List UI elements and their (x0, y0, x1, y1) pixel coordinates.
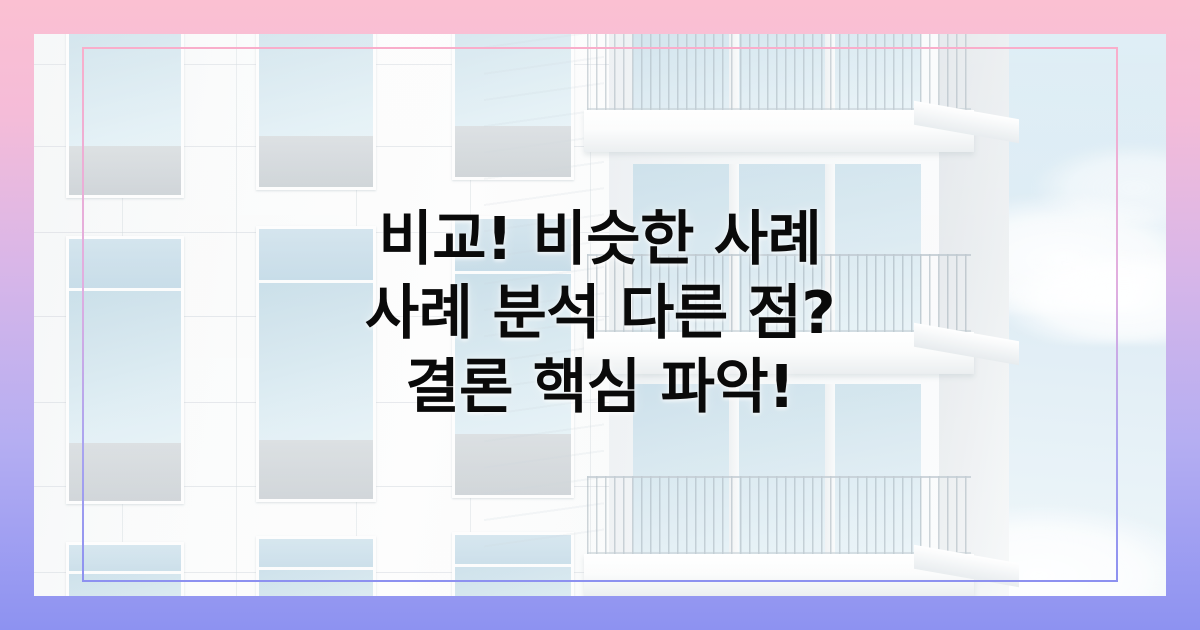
background-photo (34, 34, 1166, 596)
window-column (256, 34, 376, 596)
balcony-railing (587, 254, 971, 332)
window-column (66, 34, 184, 596)
building-facade-right-balconies (609, 34, 1029, 596)
balcony-railing (587, 476, 971, 554)
thumbnail-card: 비교! 비슷한 사례 사례 분석 다른 점? 결론 핵심 파악! (0, 0, 1200, 630)
balcony-railing (587, 34, 971, 110)
cloud-shape (1034, 144, 1166, 224)
